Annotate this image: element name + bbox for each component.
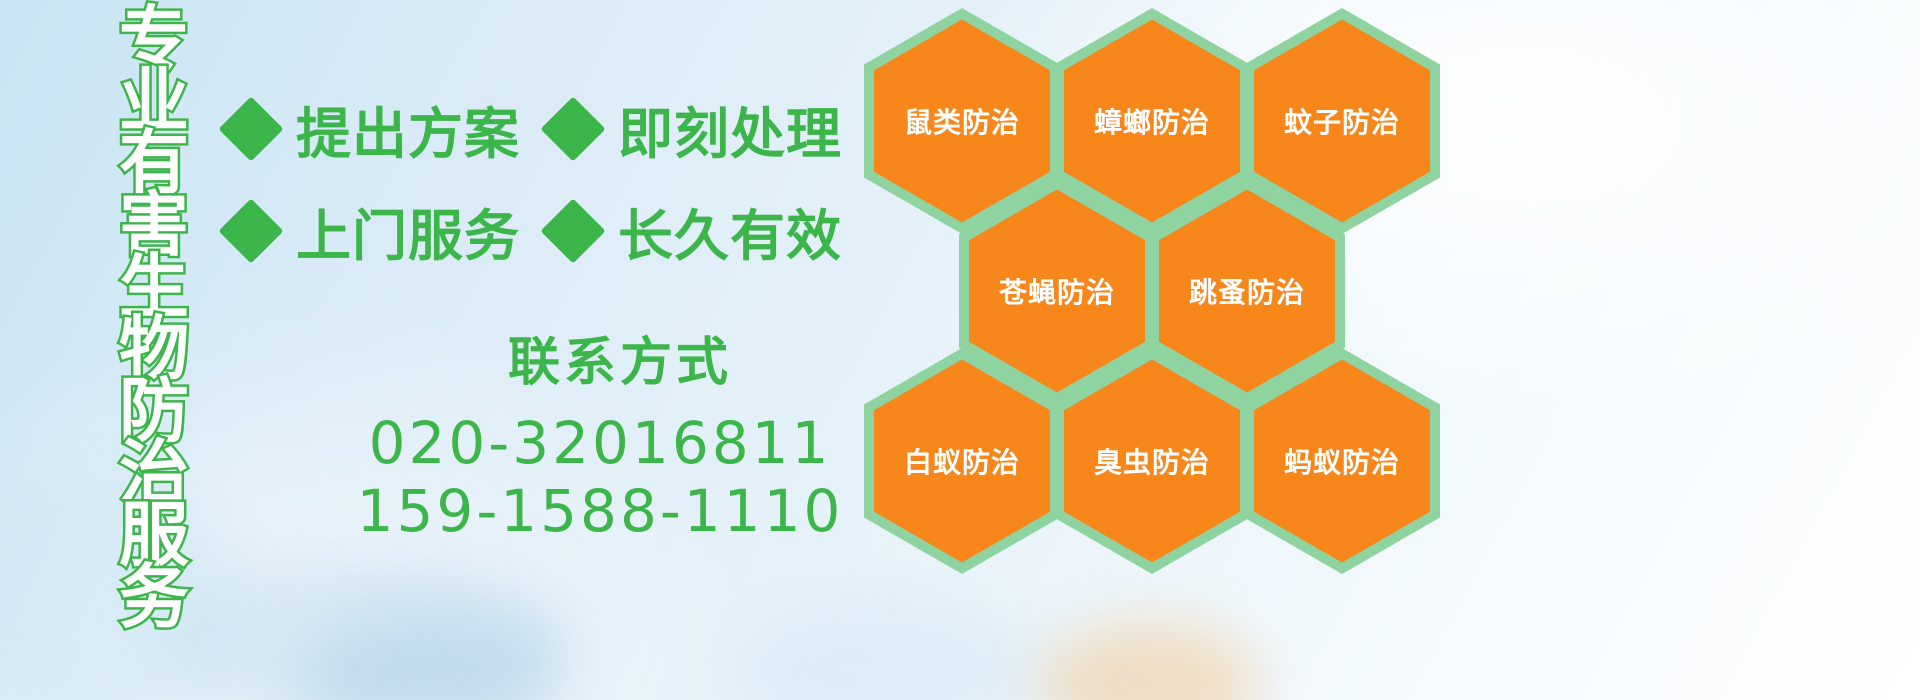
vertical-headline-char: 务	[119, 564, 189, 626]
contact-block: 联系方式 020-32016811 159-1588-1110	[300, 320, 860, 546]
feature-item: 长久有效	[550, 191, 842, 271]
vertical-headline-char: 治	[119, 440, 189, 502]
hex-inner: 臭虫防治	[1064, 360, 1240, 563]
hex-inner: 蟑螂防治	[1064, 20, 1240, 223]
vertical-headline-char: 有	[119, 130, 189, 192]
service-label: 跳蚤防治	[1189, 271, 1305, 311]
background-blur-blob	[1040, 620, 1260, 700]
hex-inner: 跳蚤防治	[1159, 190, 1335, 393]
hex-inner: 白蚁防治	[874, 360, 1050, 563]
feature-list: 提出方案 即刻处理 上门服务 长久有效	[228, 78, 868, 282]
diamond-bullet-icon	[218, 198, 283, 263]
feature-label: 长久有效	[618, 191, 842, 271]
diamond-bullet-icon	[540, 198, 605, 263]
hex-inner: 苍蝇防治	[969, 190, 1145, 393]
diamond-bullet-icon	[218, 96, 283, 161]
service-label: 苍蝇防治	[999, 271, 1115, 311]
service-hex-grid: 鼠类防治 蟑螂防治 蚊子防治 苍蝇防治 跳蚤防治 白蚁防治	[858, 0, 1478, 580]
vertical-headline-char: 业	[119, 68, 189, 130]
contact-title: 联系方式	[300, 320, 860, 395]
service-label: 蟑螂防治	[1094, 101, 1210, 141]
hex-inner: 蚂蚁防治	[1254, 360, 1430, 563]
vertical-headline-char: 服	[119, 502, 189, 564]
vertical-headline-char: 防	[119, 378, 189, 440]
background-blur-blob	[150, 560, 570, 700]
feature-label: 提出方案	[296, 89, 520, 169]
vertical-headline-char: 害	[119, 192, 189, 254]
service-label: 蚂蚁防治	[1284, 441, 1400, 481]
diamond-bullet-icon	[540, 96, 605, 161]
vertical-headline-char: 专	[119, 6, 189, 68]
hex-inner: 鼠类防治	[874, 20, 1050, 223]
service-label: 鼠类防治	[904, 101, 1020, 141]
phone-number-landline[interactable]: 020-32016811	[300, 409, 860, 477]
feature-item: 即刻处理	[550, 89, 842, 169]
feature-row: 提出方案 即刻处理	[228, 78, 868, 180]
vertical-headline-char: 生	[119, 254, 189, 316]
background-blur-blob	[300, 615, 560, 700]
feature-item: 提出方案	[228, 89, 520, 169]
vertical-headline-char: 物	[119, 316, 189, 378]
background-blur-blob	[740, 600, 1040, 700]
feature-item: 上门服务	[228, 191, 520, 271]
vertical-headline: 专 业 有 害 生 物 防 治 服 务	[106, 6, 202, 566]
service-label: 臭虫防治	[1094, 441, 1210, 481]
service-label: 蚊子防治	[1284, 101, 1400, 141]
service-label: 白蚁防治	[904, 441, 1020, 481]
phone-number-mobile[interactable]: 159-1588-1110	[300, 477, 860, 545]
feature-row: 上门服务 长久有效	[228, 180, 868, 282]
feature-label: 上门服务	[296, 191, 520, 271]
feature-label: 即刻处理	[618, 89, 842, 169]
hex-inner: 蚊子防治	[1254, 20, 1430, 223]
pest-control-banner: 专 业 有 害 生 物 防 治 服 务 提出方案 即刻处理 上门服务	[0, 0, 1920, 700]
